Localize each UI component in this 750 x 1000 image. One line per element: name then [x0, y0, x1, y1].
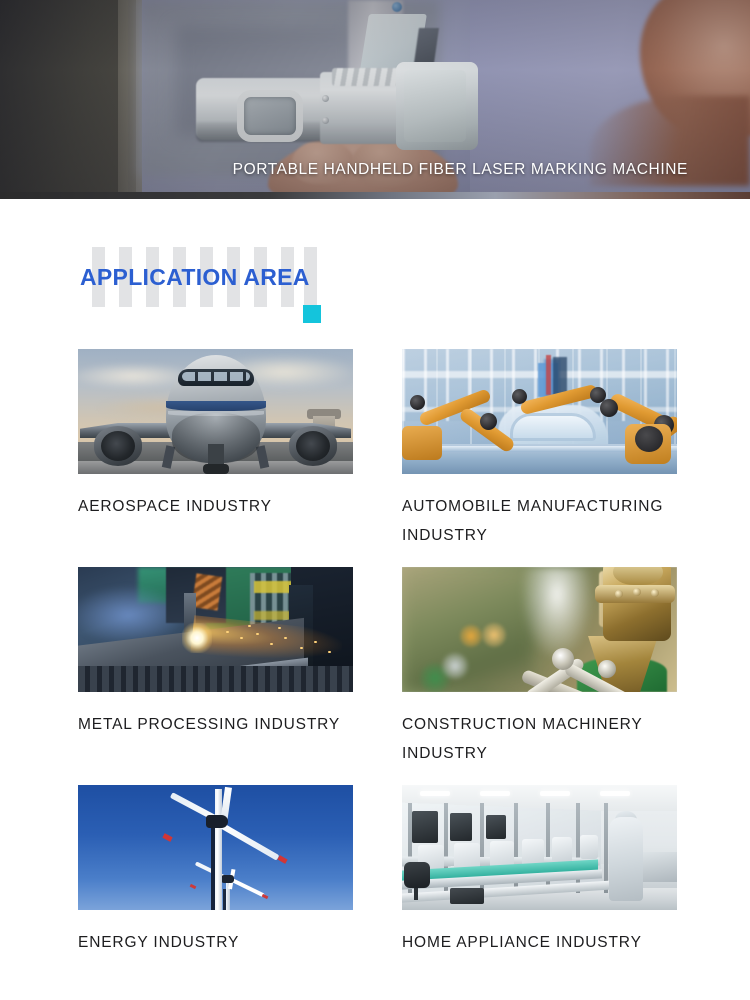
application-grid: AEROSPACE INDUSTRY [0, 349, 750, 974]
application-card-automobile[interactable]: AUTOMOBILE MANUFACTURING INDUSTRY [402, 349, 677, 550]
automobile-manufacturing-image [402, 349, 677, 474]
application-card-label: METAL PROCESSING INDUSTRY [78, 710, 353, 739]
application-card-energy[interactable]: ENERGY INDUSTRY [78, 785, 353, 957]
construction-machinery-image [402, 567, 677, 692]
application-card-label: HOME APPLIANCE INDUSTRY [402, 928, 677, 957]
metal-processing-image [78, 567, 353, 692]
accent-square-decoration [303, 305, 321, 323]
application-card-label: CONSTRUCTION MACHINERY INDUSTRY [402, 710, 677, 768]
hero-divider [0, 192, 750, 199]
application-card-label: AUTOMOBILE MANUFACTURING INDUSTRY [402, 492, 677, 550]
application-card-construction-machinery[interactable]: CONSTRUCTION MACHINERY INDUSTRY [402, 567, 677, 768]
home-appliance-image [402, 785, 677, 910]
section-heading-block: APPLICATION AREA [80, 247, 330, 319]
application-card-metal-processing[interactable]: METAL PROCESSING INDUSTRY [78, 567, 353, 768]
page-title: APPLICATION AREA [80, 264, 310, 291]
application-card-label: ENERGY INDUSTRY [78, 928, 353, 957]
application-card-home-appliance[interactable]: HOME APPLIANCE INDUSTRY [402, 785, 677, 957]
aerospace-industry-image [78, 349, 353, 474]
hero-title: PORTABLE HANDHELD FIBER LASER MARKING MA… [0, 161, 750, 179]
application-card-aerospace[interactable]: AEROSPACE INDUSTRY [78, 349, 353, 550]
hero-banner: PORTABLE HANDHELD FIBER LASER MARKING MA… [0, 0, 750, 199]
energy-industry-image [78, 785, 353, 910]
application-card-label: AEROSPACE INDUSTRY [78, 492, 353, 521]
application-area-section: APPLICATION AREA [0, 247, 750, 974]
